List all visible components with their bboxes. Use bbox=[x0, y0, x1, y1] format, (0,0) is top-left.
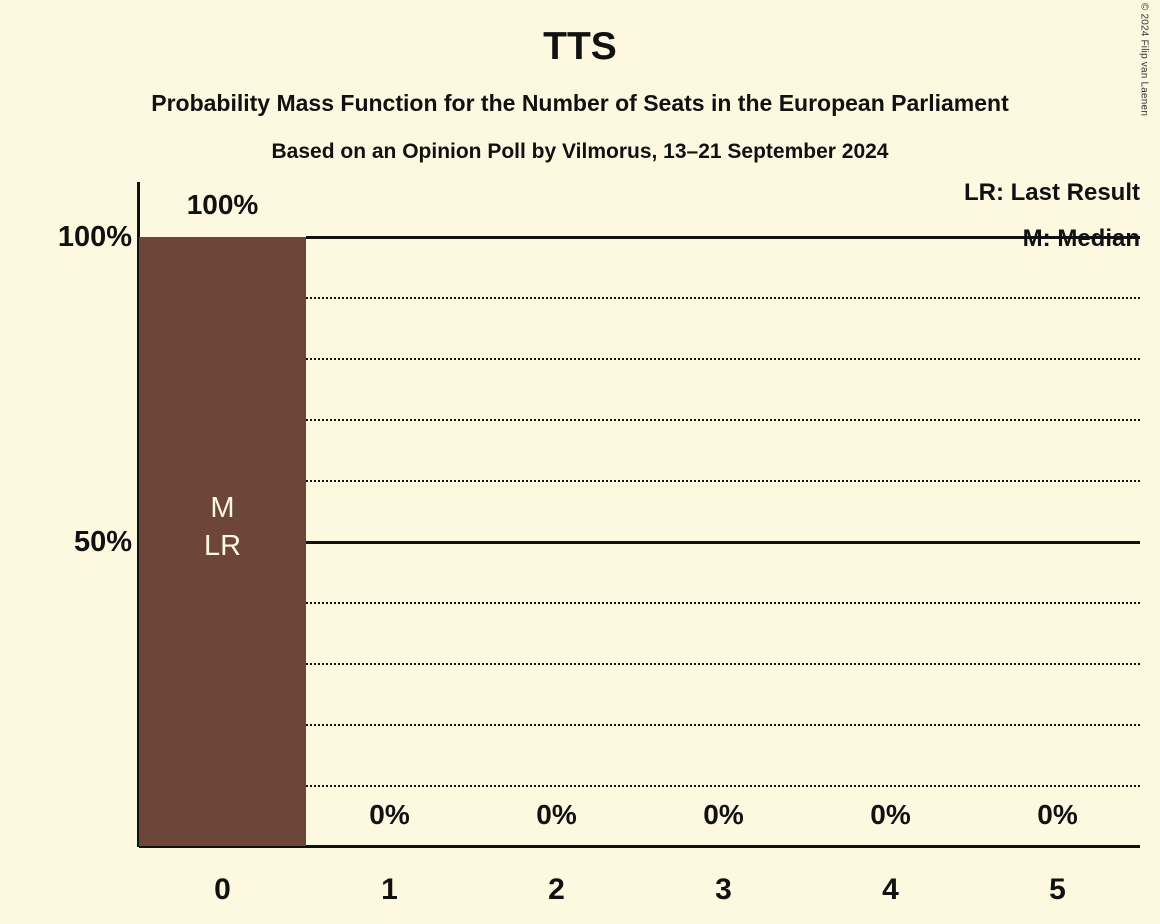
bar-5-value-label: 0% bbox=[974, 798, 1141, 832]
chart-canvas: TTS Probability Mass Function for the Nu… bbox=[0, 0, 1160, 924]
gridline-100 bbox=[306, 236, 1140, 239]
x-tick-label-4: 4 bbox=[807, 872, 974, 908]
gridline-10 bbox=[306, 785, 1140, 787]
chart-source-line: Based on an Opinion Poll by Vilmorus, 13… bbox=[0, 138, 1160, 165]
y-tick-label-50: 50% bbox=[74, 525, 132, 559]
gridline-30 bbox=[306, 663, 1140, 665]
x-tick-label-3: 3 bbox=[640, 872, 807, 908]
page-title: TTS bbox=[0, 24, 1160, 70]
gridline-20 bbox=[306, 724, 1140, 726]
x-tick-label-0: 0 bbox=[139, 872, 306, 908]
gridline-50 bbox=[306, 541, 1140, 544]
bar-4-value-label: 0% bbox=[807, 798, 974, 832]
chart-subtitle: Probability Mass Function for the Number… bbox=[0, 89, 1160, 118]
bar-0-last-result-marker: LR bbox=[139, 527, 306, 565]
gridline-90 bbox=[306, 297, 1140, 299]
bar-0-median-marker: M bbox=[139, 489, 306, 527]
x-tick-label-1: 1 bbox=[306, 872, 473, 908]
copyright-notice: © 2024 Filip van Laenen bbox=[1139, 0, 1150, 120]
bar-1-value-label: 0% bbox=[306, 798, 473, 832]
gridline-80 bbox=[306, 358, 1140, 360]
bar-0[interactable]: M LR bbox=[139, 237, 306, 846]
y-tick-label-100: 100% bbox=[58, 220, 132, 254]
gridline-70 bbox=[306, 419, 1140, 421]
gridline-40 bbox=[306, 602, 1140, 604]
bar-0-value-label: 100% bbox=[139, 188, 306, 222]
gridline-60 bbox=[306, 480, 1140, 482]
bar-2-value-label: 0% bbox=[473, 798, 640, 832]
x-tick-label-2: 2 bbox=[473, 872, 640, 908]
legend-last-result: LR: Last Result bbox=[964, 178, 1140, 208]
legend-median: M: Median bbox=[1023, 224, 1140, 254]
bar-3-value-label: 0% bbox=[640, 798, 807, 832]
x-tick-label-5: 5 bbox=[974, 872, 1141, 908]
